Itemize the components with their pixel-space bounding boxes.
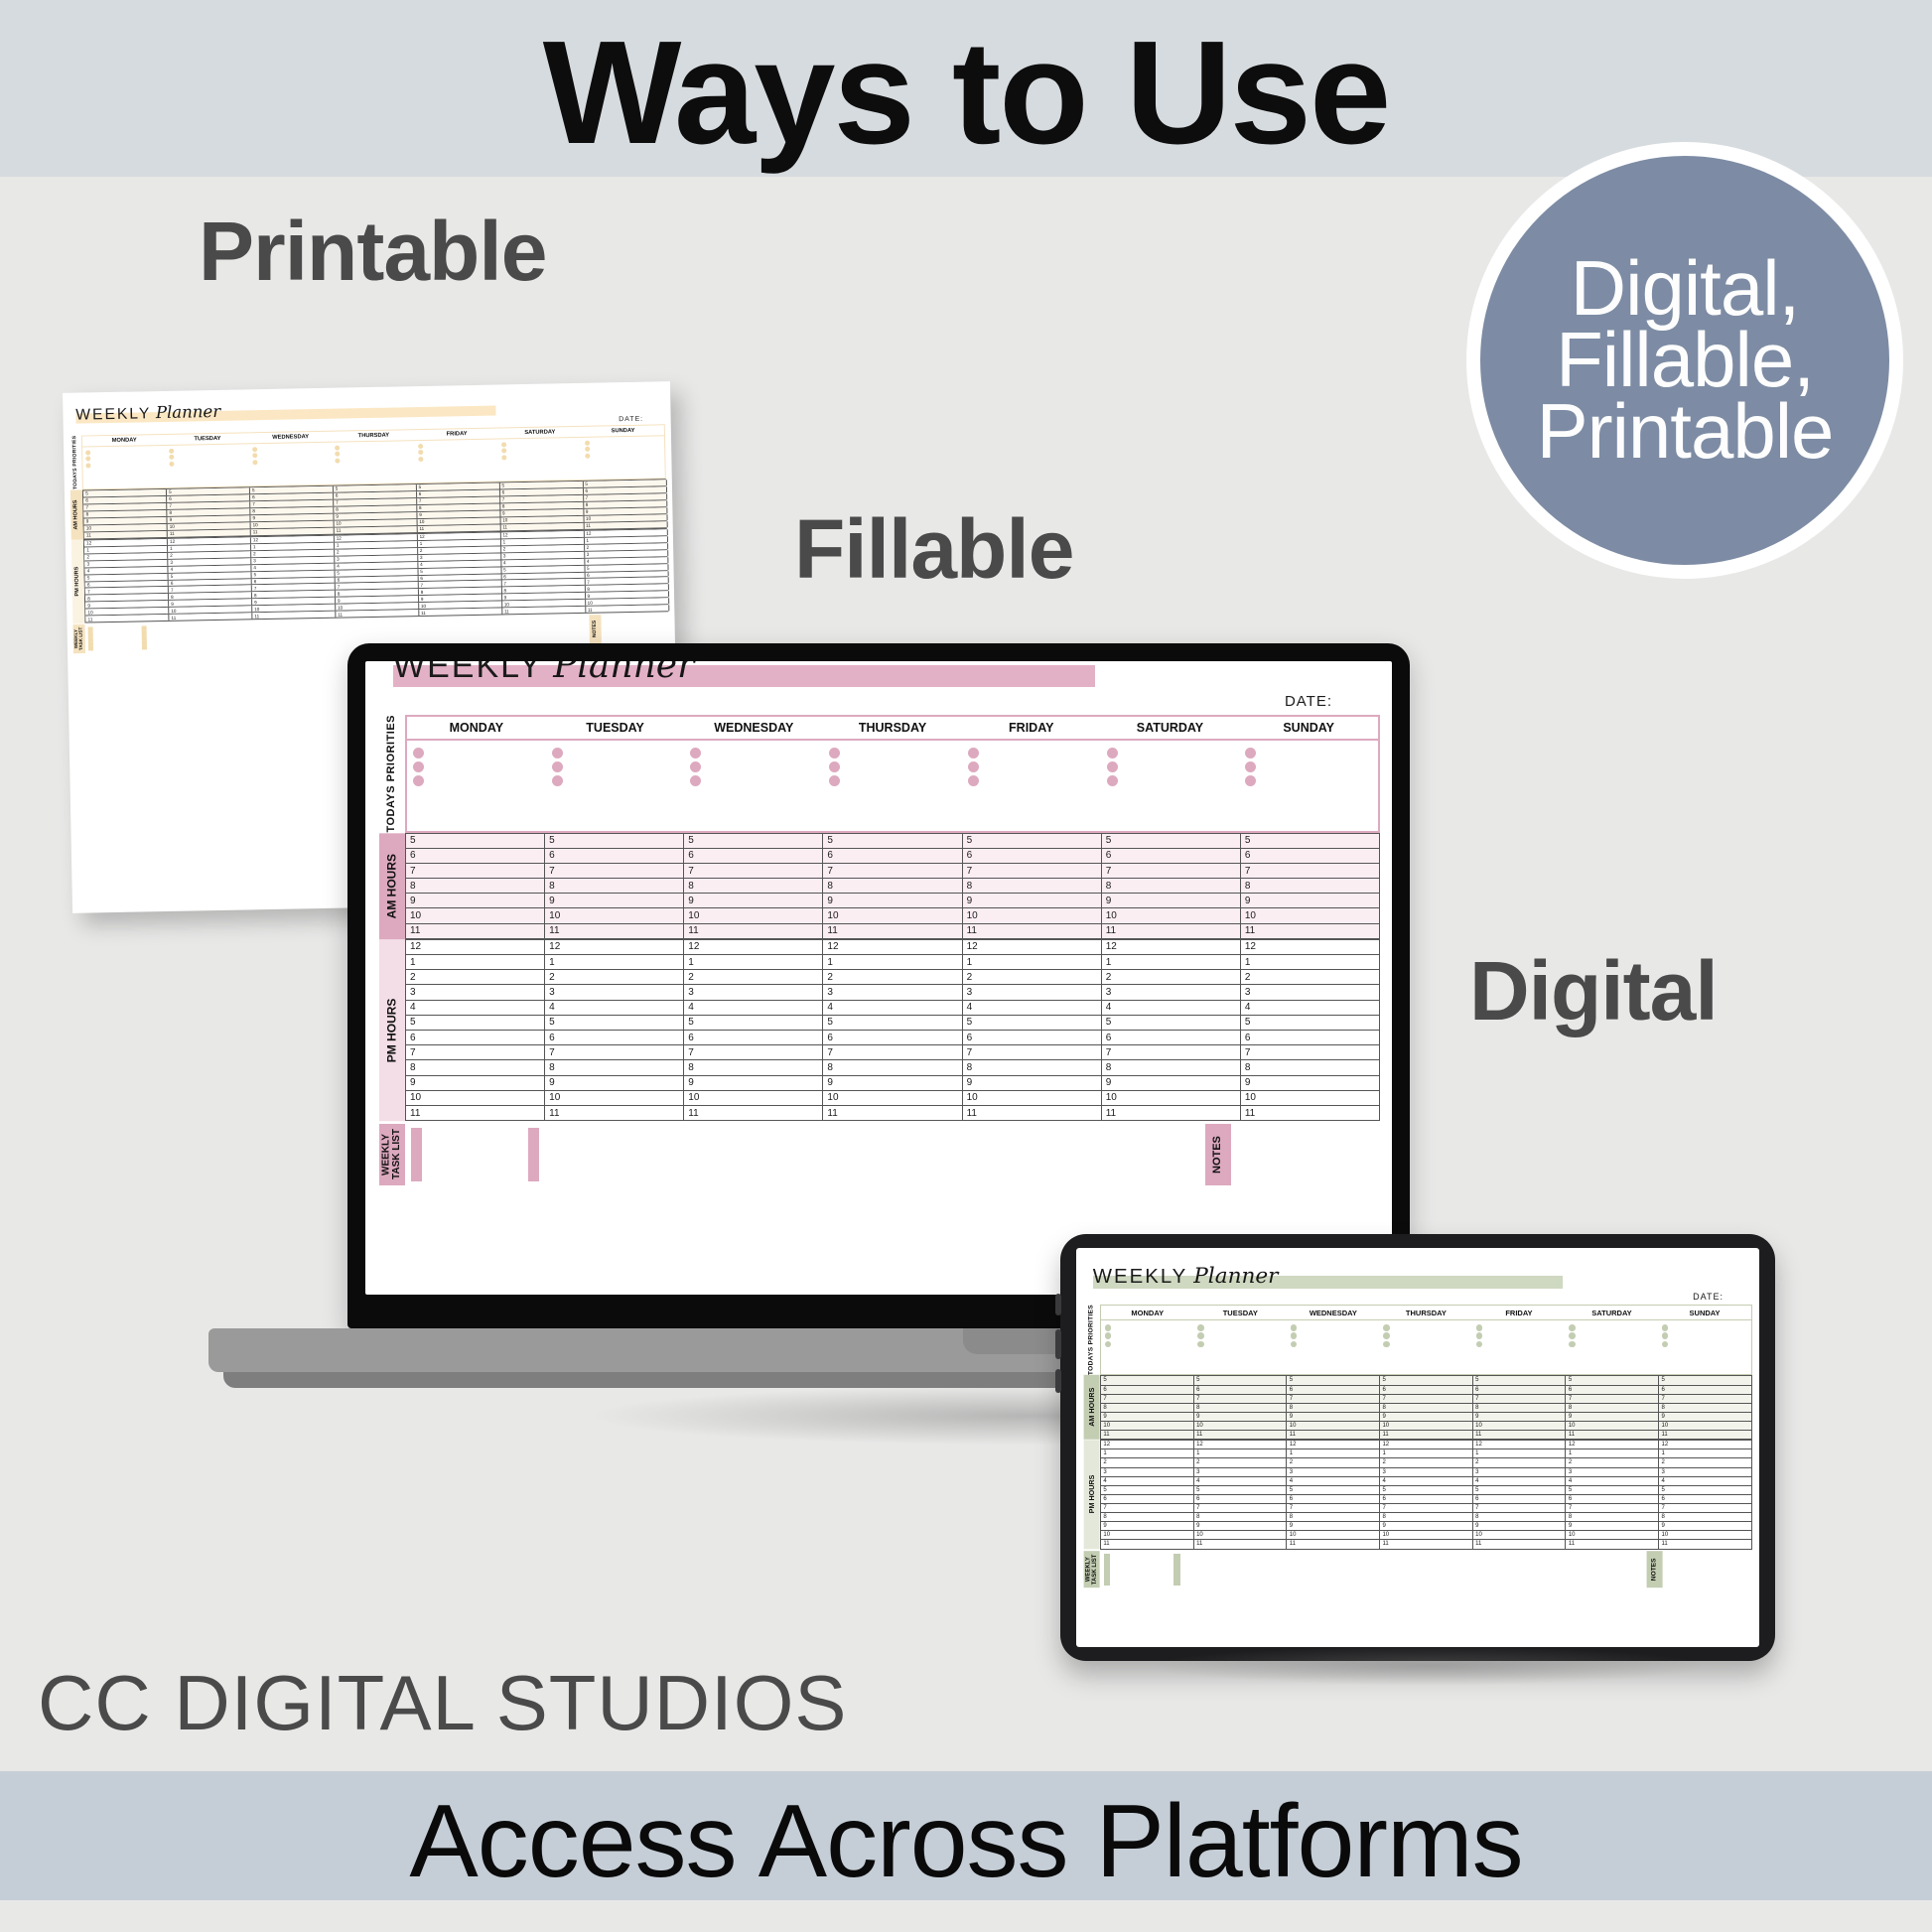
hour-cell[interactable]: 10 <box>1102 908 1241 922</box>
hour-cell[interactable]: 5 <box>1659 1486 1752 1494</box>
hour-cell[interactable]: 11 <box>1566 1540 1659 1548</box>
hour-cell[interactable]: 2 <box>823 970 962 984</box>
hour-cell[interactable]: 11 <box>86 615 170 622</box>
hour-cell[interactable]: 11 <box>1659 1431 1752 1439</box>
hour-cell[interactable]: 7 <box>963 864 1102 878</box>
hour-cell[interactable]: 4 <box>963 1001 1102 1015</box>
hour-cell[interactable]: 8 <box>1473 1404 1567 1412</box>
priority-dot[interactable] <box>1291 1341 1298 1348</box>
hour-cell[interactable]: 4 <box>1101 1477 1194 1485</box>
hour-cell[interactable]: 3 <box>1102 985 1241 999</box>
hour-cell[interactable]: 11 <box>1566 1431 1659 1439</box>
priority-dot[interactable] <box>1105 1324 1112 1331</box>
priority-dot[interactable] <box>585 454 590 459</box>
hour-cell[interactable]: 3 <box>1101 1468 1194 1476</box>
task-checkbox[interactable] <box>411 1139 422 1150</box>
priority-dot[interactable] <box>1245 748 1256 759</box>
task-checkbox[interactable] <box>528 1139 539 1150</box>
priority-dot[interactable] <box>85 457 90 462</box>
hour-cell[interactable]: 6 <box>1287 1495 1380 1503</box>
priority-cell-wednesday[interactable] <box>249 443 333 469</box>
hour-cell[interactable]: 10 <box>684 908 823 922</box>
hour-cell[interactable]: 11 <box>684 924 823 938</box>
priority-dot[interactable] <box>336 458 341 463</box>
hour-cell[interactable]: 10 <box>1659 1531 1752 1539</box>
hour-cell[interactable]: 8 <box>406 879 545 893</box>
priority-dot[interactable] <box>413 761 424 772</box>
priority-cell-friday[interactable] <box>415 439 498 465</box>
hour-cell[interactable]: 8 <box>1380 1404 1473 1412</box>
hour-cell[interactable]: 8 <box>1659 1513 1752 1521</box>
hour-cell[interactable]: 10 <box>963 908 1102 922</box>
hour-cell[interactable]: 11 <box>1380 1540 1473 1548</box>
hour-cell[interactable]: 12 <box>406 940 545 954</box>
hour-cell[interactable]: 12 <box>1380 1441 1473 1449</box>
hour-cell[interactable]: 7 <box>963 1045 1102 1059</box>
hour-cell[interactable]: 6 <box>1101 1495 1194 1503</box>
hour-cell[interactable]: 5 <box>1566 1486 1659 1494</box>
priority-cell-wednesday[interactable] <box>684 741 823 792</box>
hour-cell[interactable]: 11 <box>170 614 253 621</box>
hour-cell[interactable]: 7 <box>684 864 823 878</box>
priority-dot[interactable] <box>252 454 257 459</box>
hour-cell[interactable]: 6 <box>684 849 823 863</box>
hour-cell[interactable]: 8 <box>1566 1513 1659 1521</box>
hour-cell[interactable]: 12 <box>1101 1441 1194 1449</box>
hour-cell[interactable]: 5 <box>406 834 545 848</box>
hour-cell[interactable]: 9 <box>1380 1413 1473 1421</box>
hour-cell[interactable]: 2 <box>1566 1458 1659 1466</box>
hour-cell[interactable]: 10 <box>823 908 962 922</box>
priority-cell-tuesday[interactable] <box>546 741 685 792</box>
priority-dot[interactable] <box>335 446 340 451</box>
task-list-column[interactable] <box>1100 1551 1171 1587</box>
hour-cell[interactable]: 8 <box>1287 1404 1380 1412</box>
task-list-column[interactable] <box>139 622 194 652</box>
priority-dot[interactable] <box>1197 1332 1204 1339</box>
hour-cell[interactable]: 10 <box>1194 1422 1288 1430</box>
priority-dot[interactable] <box>552 775 563 786</box>
priority-dot[interactable] <box>1476 1332 1483 1339</box>
hour-cell[interactable]: 8 <box>1566 1404 1659 1412</box>
priority-dot[interactable] <box>501 455 506 460</box>
hour-cell[interactable]: 2 <box>1101 1458 1194 1466</box>
hour-cell[interactable]: 8 <box>545 879 684 893</box>
hour-cell[interactable]: 7 <box>1241 864 1380 878</box>
hour-cell[interactable]: 11 <box>1473 1431 1567 1439</box>
task-checkbox[interactable] <box>411 1171 422 1181</box>
hour-cell[interactable]: 7 <box>684 1045 823 1059</box>
hour-cell[interactable]: 7 <box>1287 1504 1380 1512</box>
priority-cell-thursday[interactable] <box>333 441 416 467</box>
priority-cell-saturday[interactable] <box>498 438 582 464</box>
hour-cell[interactable]: 11 <box>545 924 684 938</box>
hour-cell[interactable]: 10 <box>1566 1422 1659 1430</box>
task-list-column[interactable] <box>522 1124 639 1185</box>
priority-dot[interactable] <box>252 447 257 452</box>
hour-cell[interactable]: 5 <box>545 1016 684 1030</box>
hour-cell[interactable]: 7 <box>1566 1504 1659 1512</box>
hour-cell[interactable]: 5 <box>823 834 962 848</box>
hour-cell[interactable]: 10 <box>1566 1531 1659 1539</box>
hour-cell[interactable]: 12 <box>1566 1441 1659 1449</box>
hour-cell[interactable]: 7 <box>1473 1395 1567 1403</box>
hour-cell[interactable]: 5 <box>1380 1376 1473 1384</box>
hour-cell[interactable]: 10 <box>1287 1531 1380 1539</box>
hour-cell[interactable]: 7 <box>1241 1045 1380 1059</box>
priority-dot[interactable] <box>1105 1341 1112 1348</box>
priority-dot[interactable] <box>1569 1332 1576 1339</box>
task-checkbox[interactable] <box>411 1160 422 1171</box>
tablet-side-button-low[interactable] <box>1055 1369 1061 1393</box>
hour-cell[interactable]: 7 <box>1380 1395 1473 1403</box>
hour-cell[interactable]: 3 <box>406 985 545 999</box>
hour-cell[interactable]: 9 <box>963 1076 1102 1090</box>
hour-cell[interactable]: 7 <box>545 864 684 878</box>
hour-cell[interactable]: 11 <box>419 609 502 617</box>
hour-cell[interactable]: 8 <box>684 879 823 893</box>
priority-cell-monday[interactable] <box>407 741 546 792</box>
priority-dot[interactable] <box>418 457 423 462</box>
hour-cell[interactable]: 7 <box>1194 1395 1288 1403</box>
hour-cell[interactable]: 6 <box>1473 1495 1567 1503</box>
hour-cell[interactable]: 5 <box>1101 1486 1194 1494</box>
hour-cell[interactable]: 6 <box>1380 1386 1473 1394</box>
hour-cell[interactable]: 1 <box>1287 1449 1380 1457</box>
hour-cell[interactable]: 5 <box>1659 1376 1752 1384</box>
task-list-column[interactable] <box>405 1124 522 1185</box>
hour-cell[interactable]: 7 <box>1659 1395 1752 1403</box>
hour-cell[interactable]: 9 <box>406 1076 545 1090</box>
hour-cell[interactable]: 3 <box>1194 1468 1288 1476</box>
priority-dot[interactable] <box>829 775 840 786</box>
priority-dot[interactable] <box>86 463 91 468</box>
hour-cell[interactable]: 8 <box>1380 1513 1473 1521</box>
hour-cell[interactable]: 3 <box>1241 985 1380 999</box>
hour-cell[interactable]: 6 <box>1241 1031 1380 1044</box>
hour-cell[interactable]: 8 <box>545 1060 684 1074</box>
hour-cell[interactable]: 5 <box>963 834 1102 848</box>
hour-cell[interactable]: 4 <box>545 1001 684 1015</box>
hour-cell[interactable]: 4 <box>406 1001 545 1015</box>
hour-cell[interactable]: 12 <box>545 940 684 954</box>
hour-cell[interactable]: 7 <box>1287 1395 1380 1403</box>
hour-cell[interactable]: 3 <box>963 985 1102 999</box>
hour-cell[interactable]: 9 <box>1566 1413 1659 1421</box>
hour-cell[interactable]: 8 <box>1194 1404 1288 1412</box>
priority-cell-monday[interactable] <box>1101 1320 1194 1351</box>
task-checkbox[interactable] <box>1173 1580 1180 1586</box>
hour-cell[interactable]: 12 <box>1102 940 1241 954</box>
hour-cell[interactable]: 11 <box>1101 1431 1194 1439</box>
priority-dot[interactable] <box>336 452 341 457</box>
hour-cell[interactable]: 7 <box>406 1045 545 1059</box>
hour-cell[interactable]: 6 <box>684 1031 823 1044</box>
hour-cell[interactable]: 5 <box>1241 834 1380 848</box>
hour-cell[interactable]: 10 <box>1659 1422 1752 1430</box>
hour-cell[interactable]: 5 <box>406 1016 545 1030</box>
task-checkbox[interactable] <box>411 1150 422 1161</box>
hour-cell[interactable]: 1 <box>1241 955 1380 969</box>
priority-dot[interactable] <box>1383 1332 1390 1339</box>
hour-cell[interactable]: 2 <box>1659 1458 1752 1466</box>
hour-cell[interactable]: 4 <box>1473 1477 1567 1485</box>
hour-cell[interactable]: 4 <box>1194 1477 1288 1485</box>
hour-cell[interactable]: 1 <box>1659 1449 1752 1457</box>
task-checkbox[interactable] <box>88 646 93 651</box>
priority-dot[interactable] <box>413 775 424 786</box>
hour-cell[interactable]: 9 <box>1659 1522 1752 1530</box>
hour-cell[interactable]: 10 <box>1241 908 1380 922</box>
hour-cell[interactable]: 6 <box>1194 1495 1288 1503</box>
priority-cell-monday[interactable] <box>82 446 166 472</box>
hour-cell[interactable]: 6 <box>823 1031 962 1044</box>
hour-cell[interactable]: 9 <box>684 1076 823 1090</box>
hour-cell[interactable]: 11 <box>823 924 962 938</box>
hour-cell[interactable]: 9 <box>1102 1076 1241 1090</box>
hour-cell[interactable]: 6 <box>406 1031 545 1044</box>
hour-cell[interactable]: 3 <box>1287 1468 1380 1476</box>
hour-cell[interactable]: 9 <box>1101 1413 1194 1421</box>
hour-cell[interactable]: 1 <box>684 955 823 969</box>
hour-cell[interactable]: 9 <box>1566 1522 1659 1530</box>
hour-cell[interactable]: 11 <box>502 607 586 615</box>
hour-cell[interactable]: 11 <box>586 606 669 614</box>
hour-cell[interactable]: 12 <box>1194 1441 1288 1449</box>
priority-cell-sunday[interactable] <box>582 436 665 462</box>
hour-cell[interactable]: 11 <box>336 610 419 618</box>
hour-cell[interactable]: 11 <box>1194 1431 1288 1439</box>
hour-cell[interactable]: 8 <box>963 1060 1102 1074</box>
priority-cell-saturday[interactable] <box>1566 1320 1659 1351</box>
priority-dot[interactable] <box>968 748 979 759</box>
priority-dot[interactable] <box>501 442 506 447</box>
hour-cell[interactable]: 9 <box>684 894 823 907</box>
hour-cell[interactable]: 6 <box>545 849 684 863</box>
hour-cell[interactable]: 6 <box>1566 1386 1659 1394</box>
priority-dot[interactable] <box>829 748 840 759</box>
hour-cell[interactable]: 10 <box>545 908 684 922</box>
hour-cell[interactable]: 8 <box>1194 1513 1288 1521</box>
hour-cell[interactable]: 6 <box>823 849 962 863</box>
hour-cell[interactable]: 2 <box>1473 1458 1567 1466</box>
priority-dot[interactable] <box>1291 1324 1298 1331</box>
notes-area[interactable] <box>601 614 670 643</box>
hour-cell[interactable]: 11 <box>1287 1540 1380 1548</box>
priority-dot[interactable] <box>501 449 506 454</box>
hour-cell[interactable]: 12 <box>1659 1441 1752 1449</box>
hour-cell[interactable]: 9 <box>1194 1413 1288 1421</box>
hour-cell[interactable]: 10 <box>1194 1531 1288 1539</box>
hour-cell[interactable]: 9 <box>1659 1413 1752 1421</box>
hour-cell[interactable]: 5 <box>684 1016 823 1030</box>
hour-cell[interactable]: 6 <box>406 849 545 863</box>
hour-cell[interactable]: 9 <box>1101 1522 1194 1530</box>
hour-cell[interactable]: 5 <box>1102 1016 1241 1030</box>
priority-dot[interactable] <box>1476 1324 1483 1331</box>
priority-dot[interactable] <box>552 761 563 772</box>
hour-cell[interactable]: 9 <box>1241 894 1380 907</box>
tablet-side-button-top[interactable] <box>1055 1294 1061 1315</box>
priority-dot[interactable] <box>1662 1332 1669 1339</box>
hour-cell[interactable]: 5 <box>1473 1376 1567 1384</box>
hour-cell[interactable]: 11 <box>1102 1106 1241 1120</box>
hour-cell[interactable]: 10 <box>1101 1531 1194 1539</box>
priority-dot[interactable] <box>968 775 979 786</box>
hour-cell[interactable]: 1 <box>1380 1449 1473 1457</box>
hour-cell[interactable]: 6 <box>1102 849 1241 863</box>
hour-cell[interactable]: 8 <box>1101 1513 1194 1521</box>
hour-cell[interactable]: 8 <box>1473 1513 1567 1521</box>
hour-cell[interactable]: 10 <box>1287 1422 1380 1430</box>
hour-cell[interactable]: 10 <box>406 1091 545 1105</box>
priority-dot[interactable] <box>829 761 840 772</box>
task-checkbox[interactable] <box>528 1128 539 1139</box>
hour-cell[interactable]: 6 <box>1102 1031 1241 1044</box>
hour-cell[interactable]: 11 <box>1194 1540 1288 1548</box>
hour-cell[interactable]: 7 <box>823 864 962 878</box>
hour-cell[interactable]: 10 <box>963 1091 1102 1105</box>
hour-cell[interactable]: 9 <box>545 894 684 907</box>
hour-cell[interactable]: 5 <box>1566 1376 1659 1384</box>
hour-cell[interactable]: 9 <box>1194 1522 1288 1530</box>
hour-cell[interactable]: 3 <box>1473 1468 1567 1476</box>
tablet-side-button-mid[interactable] <box>1055 1329 1061 1359</box>
hour-cell[interactable]: 1 <box>1102 955 1241 969</box>
hour-cell[interactable]: 10 <box>823 1091 962 1105</box>
hour-cell[interactable]: 10 <box>1102 1091 1241 1105</box>
hour-cell[interactable]: 7 <box>1473 1504 1567 1512</box>
hour-cell[interactable]: 6 <box>1101 1386 1194 1394</box>
hour-cell[interactable]: 2 <box>1194 1458 1288 1466</box>
hour-cell[interactable]: 6 <box>1566 1495 1659 1503</box>
hour-cell[interactable]: 2 <box>1102 970 1241 984</box>
priority-cell-tuesday[interactable] <box>166 444 249 470</box>
hour-cell[interactable]: 12 <box>1473 1441 1567 1449</box>
hour-cell[interactable]: 8 <box>1102 1060 1241 1074</box>
hour-cell[interactable]: 4 <box>1566 1477 1659 1485</box>
hour-cell[interactable]: 6 <box>963 849 1102 863</box>
task-list-free-area[interactable] <box>639 1124 1205 1185</box>
priority-dot[interactable] <box>1383 1324 1390 1331</box>
hour-cell[interactable]: 12 <box>1241 940 1380 954</box>
hour-cell[interactable]: 2 <box>545 970 684 984</box>
hour-cell[interactable]: 1 <box>1566 1449 1659 1457</box>
hour-cell[interactable]: 9 <box>1241 1076 1380 1090</box>
priority-dot[interactable] <box>690 748 701 759</box>
hour-cell[interactable]: 8 <box>963 879 1102 893</box>
priority-dot[interactable] <box>1569 1324 1576 1331</box>
priority-dot[interactable] <box>1107 761 1118 772</box>
hour-cell[interactable]: 12 <box>823 940 962 954</box>
hour-cell[interactable]: 9 <box>545 1076 684 1090</box>
hour-cell[interactable]: 4 <box>684 1001 823 1015</box>
priority-dot[interactable] <box>552 748 563 759</box>
priority-dot[interactable] <box>418 450 423 455</box>
hour-cell[interactable]: 7 <box>406 864 545 878</box>
hour-cell[interactable]: 11 <box>1102 924 1241 938</box>
hour-cell[interactable]: 9 <box>1287 1522 1380 1530</box>
hour-cell[interactable]: 5 <box>1102 834 1241 848</box>
task-list-column[interactable] <box>1171 1551 1241 1587</box>
priority-dot[interactable] <box>85 450 90 455</box>
hour-cell[interactable]: 6 <box>1241 849 1380 863</box>
priority-cell-sunday[interactable] <box>1239 741 1378 792</box>
hour-cell[interactable]: 5 <box>1287 1486 1380 1494</box>
hour-cell[interactable]: 5 <box>684 834 823 848</box>
hour-cell[interactable]: 5 <box>1241 1016 1380 1030</box>
hour-cell[interactable]: 1 <box>545 955 684 969</box>
priority-cell-wednesday[interactable] <box>1287 1320 1380 1351</box>
priority-dot[interactable] <box>690 761 701 772</box>
priority-dot[interactable] <box>1245 761 1256 772</box>
task-checkbox[interactable] <box>528 1160 539 1171</box>
hour-cell[interactable]: 11 <box>684 1106 823 1120</box>
priority-dot[interactable] <box>968 761 979 772</box>
priority-dot[interactable] <box>1476 1341 1483 1348</box>
hour-cell[interactable]: 5 <box>823 1016 962 1030</box>
hour-cell[interactable]: 2 <box>1380 1458 1473 1466</box>
hour-cell[interactable]: 7 <box>1566 1395 1659 1403</box>
priority-dot[interactable] <box>1107 775 1118 786</box>
hour-cell[interactable]: 10 <box>545 1091 684 1105</box>
hour-cell[interactable]: 7 <box>823 1045 962 1059</box>
hour-cell[interactable]: 11 <box>545 1106 684 1120</box>
priority-dot[interactable] <box>1107 748 1118 759</box>
hour-cell[interactable]: 3 <box>1380 1468 1473 1476</box>
hour-cell[interactable]: 9 <box>1473 1522 1567 1530</box>
hour-cell[interactable]: 11 <box>1241 924 1380 938</box>
hour-cell[interactable]: 10 <box>684 1091 823 1105</box>
priority-dot[interactable] <box>585 447 590 452</box>
priority-dot[interactable] <box>1383 1341 1390 1348</box>
hour-cell[interactable]: 5 <box>1194 1486 1288 1494</box>
hour-cell[interactable]: 5 <box>545 834 684 848</box>
hour-cell[interactable]: 11 <box>252 612 336 620</box>
priority-dot[interactable] <box>1662 1341 1669 1348</box>
hour-cell[interactable]: 11 <box>1659 1540 1752 1548</box>
priority-dot[interactable] <box>1245 775 1256 786</box>
hour-cell[interactable]: 11 <box>823 1106 962 1120</box>
hour-cell[interactable]: 1 <box>406 955 545 969</box>
priority-cell-tuesday[interactable] <box>1194 1320 1288 1351</box>
hour-cell[interactable]: 10 <box>1380 1531 1473 1539</box>
hour-cell[interactable]: 11 <box>1241 1106 1380 1120</box>
hour-cell[interactable]: 5 <box>963 1016 1102 1030</box>
hour-cell[interactable]: 9 <box>823 894 962 907</box>
hour-cell[interactable]: 8 <box>1659 1404 1752 1412</box>
hour-cell[interactable]: 3 <box>684 985 823 999</box>
hour-cell[interactable]: 11 <box>963 924 1102 938</box>
hour-cell[interactable]: 8 <box>1287 1513 1380 1521</box>
hour-cell[interactable]: 11 <box>1287 1431 1380 1439</box>
hour-cell[interactable]: 2 <box>963 970 1102 984</box>
hour-cell[interactable]: 10 <box>1101 1422 1194 1430</box>
priority-dot[interactable] <box>169 462 174 467</box>
priority-dot[interactable] <box>1105 1332 1112 1339</box>
hour-cell[interactable]: 2 <box>1241 970 1380 984</box>
hour-cell[interactable]: 6 <box>1659 1495 1752 1503</box>
hour-cell[interactable]: 8 <box>1241 879 1380 893</box>
hour-cell[interactable]: 3 <box>1566 1468 1659 1476</box>
priority-dot[interactable] <box>1197 1341 1204 1348</box>
hour-cell[interactable]: 9 <box>1473 1413 1567 1421</box>
priority-dot[interactable] <box>1569 1341 1576 1348</box>
hour-cell[interactable]: 9 <box>406 894 545 907</box>
priority-cell-saturday[interactable] <box>1101 741 1240 792</box>
hour-cell[interactable]: 7 <box>1659 1504 1752 1512</box>
hour-cell[interactable]: 5 <box>1287 1376 1380 1384</box>
